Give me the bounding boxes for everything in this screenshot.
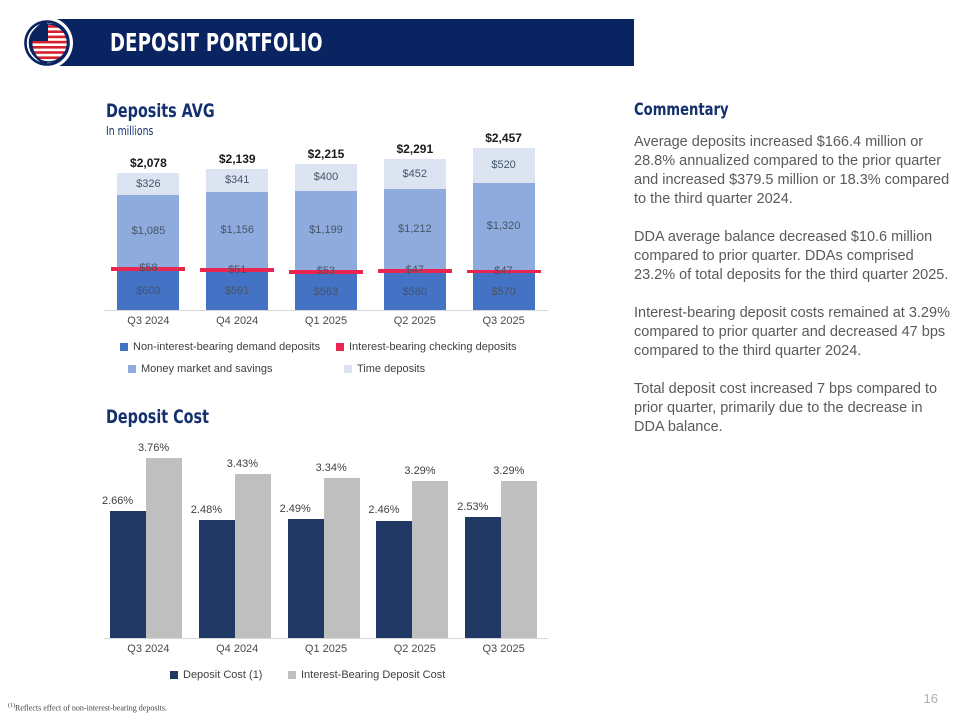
deposit-cost-value-label: 2.48% — [191, 504, 222, 516]
legend-label: Interest-Bearing Deposit Cost — [301, 669, 445, 681]
legend-label: Time deposits — [357, 363, 425, 375]
deposits-category-label: Q3 2025 — [459, 315, 548, 327]
deposits-avg-x-axis — [104, 310, 548, 311]
interest-bearing-cost-bar[interactable] — [146, 458, 182, 638]
deposits-segment: $53 — [295, 270, 357, 274]
legend-swatch-icon — [170, 671, 178, 679]
legend-item[interactable]: Interest-bearing checking deposits — [336, 341, 517, 353]
deposit-cost-value-label: 3.29% — [493, 465, 524, 477]
commentary-panel: Commentary Average deposits increased $1… — [634, 100, 954, 456]
commentary-paragraph: Total deposit cost increased 7 bps compa… — [634, 380, 954, 437]
deposit-cost-value-label: 2.53% — [457, 501, 488, 513]
legend-swatch-icon — [288, 671, 296, 679]
deposit-cost-title: Deposit Cost — [106, 406, 209, 428]
commentary-paragraph: Interest-bearing deposit costs remained … — [634, 304, 954, 361]
interest-bearing-cost-bar[interactable] — [324, 478, 360, 638]
legend-swatch-icon — [120, 343, 128, 351]
legend-swatch-icon — [128, 365, 136, 373]
legend-label: Money market and savings — [141, 363, 272, 375]
footnote: (1)Reflects effect of non-interest-beari… — [8, 703, 167, 713]
deposits-segment: $47 — [384, 269, 446, 272]
deposit-cost-bar[interactable] — [288, 519, 324, 638]
commentary-title: Commentary — [634, 100, 909, 120]
deposit-cost-value-label: 2.49% — [280, 503, 311, 515]
deposit-cost-category-label: Q1 2025 — [282, 643, 371, 655]
commentary-paragraph: DDA average balance decreased $10.6 mill… — [634, 228, 954, 285]
legend-swatch-icon — [344, 365, 352, 373]
deposits-segment: $51 — [206, 268, 268, 271]
deposit-cost-chart: Deposit Cost 2.66%3.76%Q3 20242.48%3.43%… — [0, 0, 620, 300]
deposit-cost-bar[interactable] — [376, 521, 412, 639]
deposit-cost-legend: Deposit Cost (1)Interest-Bearing Deposit… — [170, 669, 470, 685]
deposits-category-label: Q1 2025 — [282, 315, 371, 327]
legend-label: Non-interest-bearing demand deposits — [133, 341, 320, 353]
interest-bearing-cost-bar[interactable] — [235, 474, 271, 638]
deposits-segment-label: $47 — [473, 266, 535, 277]
deposits-category-label: Q4 2024 — [193, 315, 282, 327]
deposit-cost-bar[interactable] — [199, 520, 235, 638]
deposits-category-label: Q2 2025 — [370, 315, 459, 327]
deposit-cost-value-label: 2.66% — [102, 495, 133, 507]
footnote-text: Reflects effect of non-interest-bearing … — [15, 704, 167, 713]
legend-label: Deposit Cost (1) — [183, 669, 262, 681]
deposit-cost-value-label: 3.76% — [138, 442, 169, 454]
deposit-cost-value-label: 2.46% — [368, 504, 399, 516]
deposit-cost-value-label: 3.34% — [316, 462, 347, 474]
deposit-cost-bar-group — [104, 435, 193, 638]
deposits-segment-label: $58 — [117, 263, 179, 274]
legend-swatch-icon — [336, 343, 344, 351]
deposit-cost-value-label: 3.43% — [227, 458, 258, 470]
deposits-segment-label: $51 — [206, 265, 268, 276]
legend-label: Interest-bearing checking deposits — [349, 341, 517, 353]
deposits-avg-legend: Non-interest-bearing demand depositsInte… — [120, 341, 540, 383]
deposits-segment-label: $53 — [295, 266, 357, 277]
deposit-cost-category-label: Q3 2025 — [459, 643, 548, 655]
deposit-cost-category-label: Q4 2024 — [193, 643, 282, 655]
legend-item[interactable]: Money market and savings — [128, 363, 272, 375]
page-number: 16 — [924, 691, 938, 706]
footnote-marker: (1) — [8, 703, 15, 709]
deposits-segment-label: $47 — [384, 265, 446, 276]
interest-bearing-cost-bar[interactable] — [501, 481, 537, 638]
commentary-paragraph: Average deposits increased $166.4 millio… — [634, 133, 954, 209]
deposits-segment: $47 — [473, 270, 535, 273]
deposit-cost-category-label: Q2 2025 — [370, 643, 459, 655]
legend-item[interactable]: Time deposits — [344, 363, 425, 375]
deposit-cost-bar[interactable] — [465, 517, 501, 638]
legend-item[interactable]: Non-interest-bearing demand deposits — [120, 341, 320, 353]
interest-bearing-cost-bar[interactable] — [412, 481, 448, 638]
deposit-cost-bar[interactable] — [110, 511, 146, 638]
deposits-segment: $58 — [117, 267, 179, 271]
deposit-cost-value-label: 3.29% — [404, 465, 435, 477]
deposit-cost-x-axis — [104, 638, 548, 639]
legend-item[interactable]: Deposit Cost (1) — [170, 669, 262, 681]
deposit-cost-category-label: Q3 2024 — [104, 643, 193, 655]
deposits-category-label: Q3 2024 — [104, 315, 193, 327]
legend-item[interactable]: Interest-Bearing Deposit Cost — [288, 669, 445, 681]
